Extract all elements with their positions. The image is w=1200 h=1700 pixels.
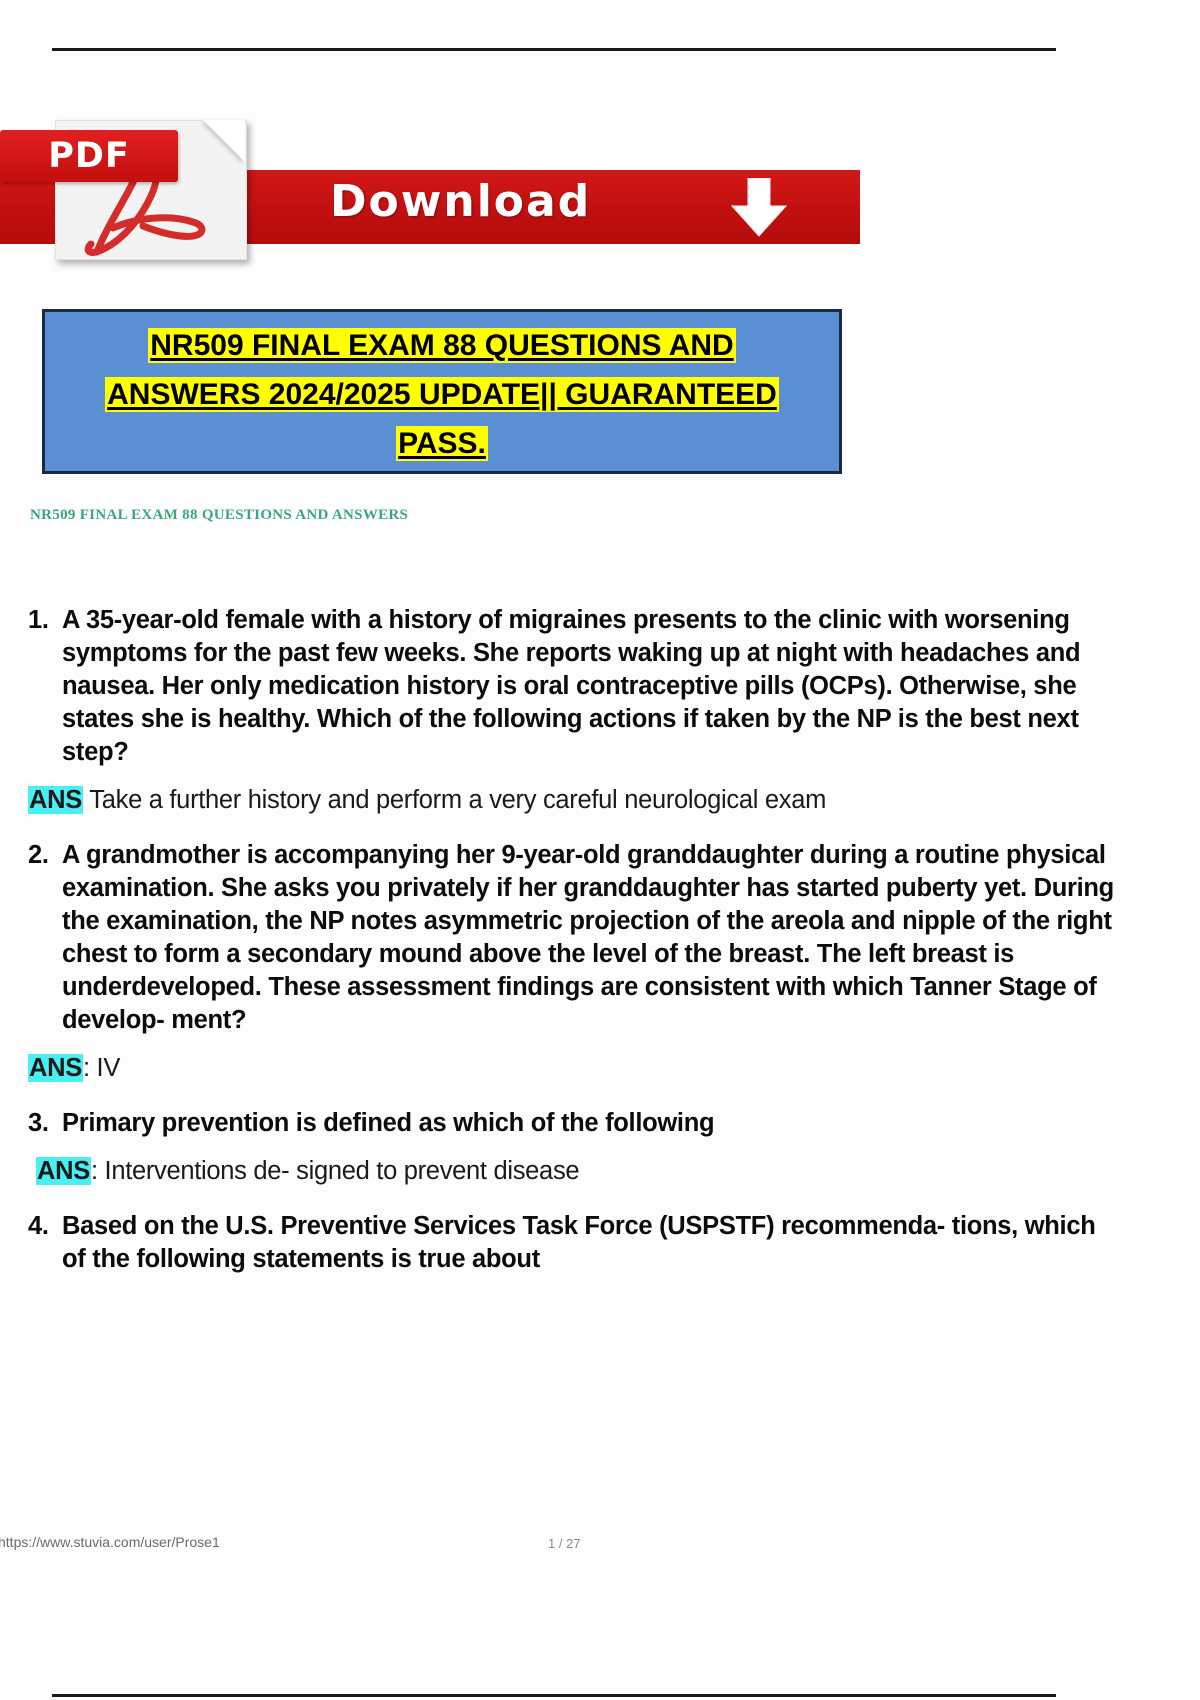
qa-block-3: 3. Primary prevention is defined as whic…	[28, 1107, 1118, 1188]
question-4: 4. Based on the U.S. Preventive Services…	[28, 1210, 1118, 1276]
pdf-badge-label: PDF	[0, 130, 178, 182]
questions-list: 1. A 35-year-old female with a history o…	[28, 604, 1118, 1298]
answer-3-tag: ANS	[36, 1157, 91, 1185]
question-2-text: A grandmother is accompanying her 9-year…	[62, 839, 1118, 1037]
footer-page-indicator: 1 / 27	[548, 1536, 581, 1551]
question-2: 2. A grandmother is accompanying her 9-y…	[28, 839, 1118, 1037]
answer-3-text: Interventions de- signed to prevent dise…	[105, 1157, 580, 1185]
pdf-file-icon[interactable]: PDF	[55, 120, 245, 258]
answer-2-tag: ANS	[28, 1054, 83, 1082]
question-3-text: Primary prevention is defined as which o…	[62, 1107, 1118, 1140]
answer-3-separator: :	[91, 1157, 105, 1185]
bottom-horizontal-rule	[52, 1694, 1056, 1697]
title-line-2-text: ANSWERS 2024/2025 UPDATE|| GUARANTEED	[105, 377, 779, 412]
green-subtitle: NR509 FINAL EXAM 88 QUESTIONS AND ANSWER…	[30, 507, 408, 524]
answer-3: ANS: Interventions de- signed to prevent…	[28, 1154, 1118, 1188]
footer-url[interactable]: https://www.stuvia.com/user/Prose1	[0, 1534, 220, 1550]
answer-2-separator: :	[83, 1054, 97, 1082]
title-line-2: ANSWERS 2024/2025 UPDATE|| GUARANTEED	[51, 373, 833, 422]
answer-1: ANS Take a further history and perform a…	[28, 783, 1118, 817]
top-horizontal-rule	[52, 48, 1056, 51]
answer-1-text: Take a further history and perform a ver…	[89, 786, 826, 814]
question-4-number: 4.	[28, 1210, 62, 1243]
answer-2: ANS: IV	[28, 1051, 1118, 1085]
qa-block-4: 4. Based on the U.S. Preventive Services…	[28, 1210, 1118, 1276]
qa-block-2: 2. A grandmother is accompanying her 9-y…	[28, 839, 1118, 1085]
download-banner-label[interactable]: Download	[330, 176, 591, 227]
title-line-3-text: PASS.	[396, 426, 488, 461]
title-banner-inner: NR509 FINAL EXAM 88 QUESTIONS AND ANSWER…	[45, 312, 839, 471]
answer-1-tag: ANS	[28, 786, 83, 814]
title-line-1-text: NR509 FINAL EXAM 88 QUESTIONS AND	[148, 328, 735, 363]
title-line-3: PASS.	[51, 422, 833, 471]
question-3-number: 3.	[28, 1107, 62, 1140]
download-arrow-icon	[728, 178, 790, 238]
title-line-1: NR509 FINAL EXAM 88 QUESTIONS AND	[51, 324, 833, 373]
question-1-number: 1.	[28, 604, 62, 637]
question-3: 3. Primary prevention is defined as whic…	[28, 1107, 1118, 1140]
title-banner: NR509 FINAL EXAM 88 QUESTIONS AND ANSWER…	[42, 309, 842, 474]
question-1: 1. A 35-year-old female with a history o…	[28, 604, 1118, 769]
answer-2-text: IV	[97, 1054, 121, 1082]
question-1-text: A 35-year-old female with a history of m…	[62, 604, 1118, 769]
question-4-text: Based on the U.S. Preventive Services Ta…	[62, 1210, 1118, 1276]
qa-block-1: 1. A 35-year-old female with a history o…	[28, 604, 1118, 817]
question-2-number: 2.	[28, 839, 62, 872]
document-page: Download PDF NR509 FINAL EXAM 88 QUESTIO…	[0, 0, 1200, 1700]
